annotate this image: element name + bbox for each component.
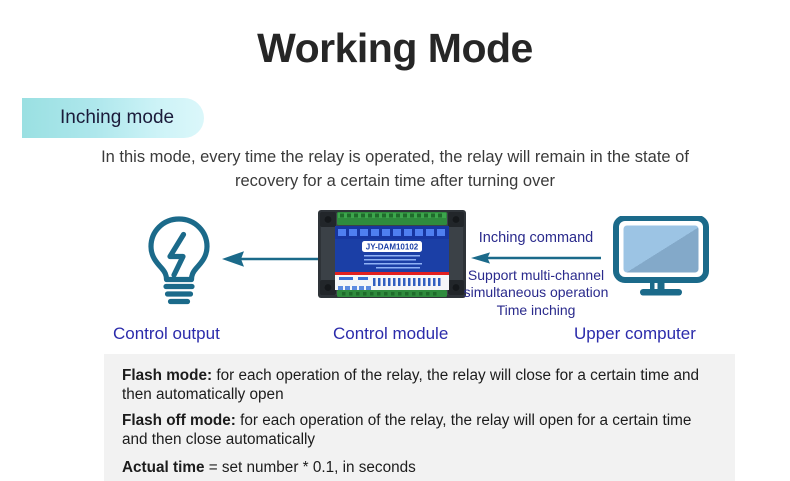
- info-flash-mode: Flash mode: for each operation of the re…: [122, 366, 719, 404]
- info-flash-off-mode: Flash off mode: for each operation of th…: [122, 411, 719, 449]
- monitor-icon: [613, 216, 709, 298]
- page-title: Working Mode: [0, 28, 790, 69]
- lightbulb-bolt-icon: [142, 214, 216, 306]
- mode-info-panel: Flash mode: for each operation of the re…: [104, 354, 735, 481]
- arrow-command-to-module-icon: [471, 251, 601, 265]
- caption-control-output: Control output: [113, 324, 220, 344]
- mode-description: In this mode, every time the relay is op…: [95, 146, 695, 194]
- module-model-label: JY-DAM10102: [366, 243, 419, 252]
- info-actual-time-text: = set number * 0.1, in seconds: [204, 459, 415, 476]
- info-actual-time-label: Actual time: [122, 459, 204, 476]
- control-module-device: JY-DAM10102: [318, 208, 466, 300]
- arrow-to-control-output-icon: [222, 249, 328, 269]
- command-note-item: Support multi-channel: [460, 267, 612, 284]
- mode-badge: Inching mode: [22, 98, 204, 138]
- inching-command-group: Inching command Support multi-channel si…: [460, 230, 612, 319]
- info-flash-off-mode-label: Flash off mode:: [122, 412, 236, 429]
- command-note-item: simultaneous operation: [460, 284, 612, 301]
- info-actual-time: Actual time = set number * 0.1, in secon…: [122, 458, 719, 477]
- inching-command-label: Inching command: [460, 230, 612, 247]
- info-flash-mode-label: Flash mode:: [122, 367, 212, 384]
- mode-badge-label: Inching mode: [60, 107, 174, 129]
- command-notes-list: Support multi-channel simultaneous opera…: [460, 267, 612, 318]
- caption-upper-computer: Upper computer: [574, 324, 696, 344]
- command-note-item: Time inching: [460, 302, 612, 319]
- caption-control-module: Control module: [333, 324, 448, 344]
